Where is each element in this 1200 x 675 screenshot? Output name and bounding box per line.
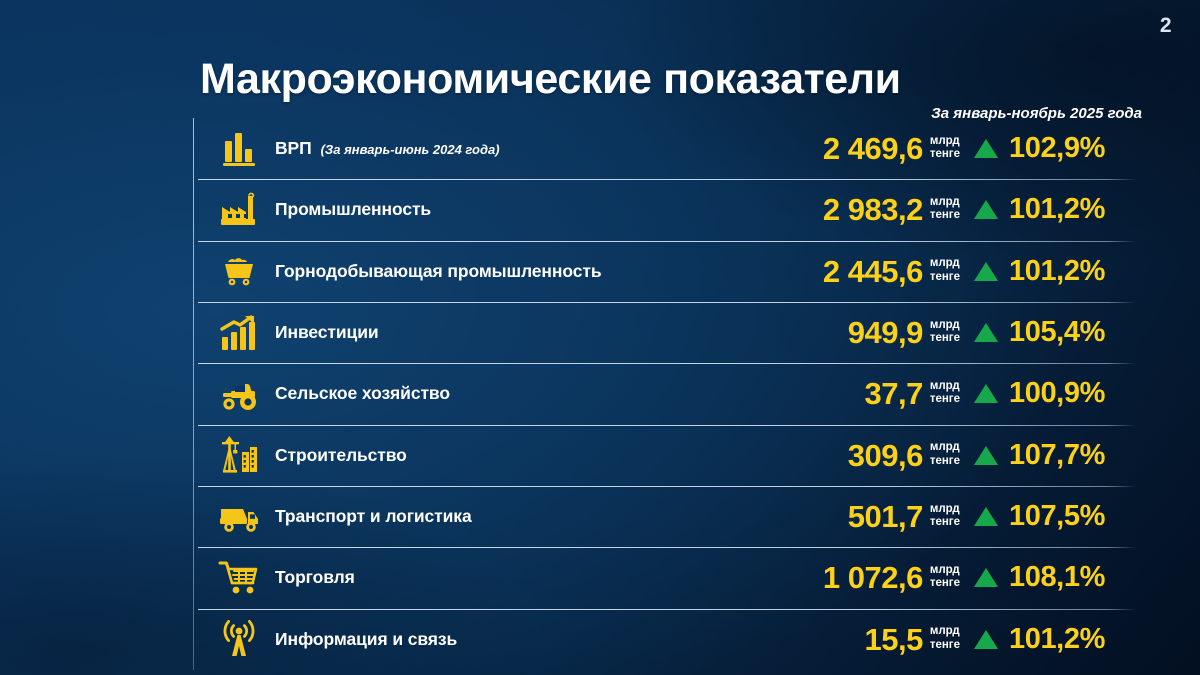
row-change: 105,4% — [960, 318, 1138, 347]
row-value-unit: млрдтенге — [930, 564, 960, 592]
row-label: Сельское хозяйство — [271, 383, 732, 404]
page-title: Макроэкономические показатели — [200, 55, 901, 103]
row-change-percent: 108,1% — [1009, 563, 1105, 592]
table-row[interactable]: Инвестиции949,9млрдтенге105,4% — [198, 302, 1138, 363]
row-label-text: Горнодобывающая промышленность — [275, 261, 601, 282]
table-row[interactable]: Транспорт и логистика501,7млрдтенге107,5… — [198, 486, 1138, 547]
unit-line-2: тенге — [930, 332, 960, 345]
trend-up-icon — [974, 507, 998, 526]
unit-line-1: млрд — [930, 196, 960, 209]
row-label-text: Инвестиции — [275, 322, 379, 343]
row-value: 15,5млрдтенге — [732, 624, 960, 655]
row-change-percent: 102,9% — [1009, 134, 1105, 163]
row-value-amount: 2 469,6 — [823, 133, 923, 164]
unit-line-2: тенге — [930, 148, 960, 161]
period-caption: За январь-ноябрь 2025 года — [931, 105, 1142, 122]
unit-line-1: млрд — [930, 257, 960, 270]
row-label-text: Информация и связь — [275, 629, 457, 650]
row-value-amount: 501,7 — [848, 501, 923, 532]
unit-line-2: тенге — [930, 271, 960, 284]
row-value: 2 983,2млрдтенге — [732, 194, 960, 225]
unit-line-2: тенге — [930, 209, 960, 222]
table-row[interactable]: Горнодобывающая промышленность2 445,6млр… — [198, 241, 1138, 302]
unit-line-2: тенге — [930, 639, 960, 652]
row-value-amount: 949,9 — [848, 317, 923, 348]
row-change-percent: 105,4% — [1009, 318, 1105, 347]
row-value-amount: 2 445,6 — [823, 256, 923, 287]
row-change-percent: 101,2% — [1009, 625, 1105, 654]
row-value-unit: млрдтенге — [930, 319, 960, 347]
table-body: ВРП(За январь-июнь 2024 года)2 469,6млрд… — [198, 118, 1138, 670]
row-change: 102,9% — [960, 134, 1138, 163]
slide-canvas: 2 Макроэкономические показатели За январ… — [0, 0, 1200, 675]
trend-up-icon — [974, 200, 998, 219]
table-left-rail — [193, 118, 194, 670]
trend-up-icon — [974, 568, 998, 587]
row-value-unit: млрдтенге — [930, 257, 960, 285]
table-row[interactable]: ВРП(За январь-июнь 2024 года)2 469,6млрд… — [198, 118, 1138, 179]
mining-cart-icon — [207, 248, 271, 294]
row-label: Транспорт и логистика — [271, 506, 732, 527]
row-value-unit: млрдтенге — [930, 625, 960, 653]
row-change: 101,2% — [960, 625, 1138, 654]
row-change-percent: 100,9% — [1009, 379, 1105, 408]
row-label-text: Строительство — [275, 445, 407, 466]
bar-chart-icon — [207, 126, 271, 172]
growth-chart-icon — [207, 310, 271, 356]
row-value-unit: млрдтенге — [930, 135, 960, 163]
row-label: ВРП(За январь-июнь 2024 года) — [271, 138, 732, 159]
row-label-note: (За январь-июнь 2024 года) — [321, 142, 500, 157]
table-row[interactable]: Торговля1 072,6млрдтенге108,1% — [198, 547, 1138, 608]
row-value-unit: млрдтенге — [930, 380, 960, 408]
row-change: 101,2% — [960, 257, 1138, 286]
row-value-amount: 2 983,2 — [823, 194, 923, 225]
unit-line-1: млрд — [930, 441, 960, 454]
row-label: Промышленность — [271, 199, 732, 220]
table-row[interactable]: Сельское хозяйство37,7млрдтенге100,9% — [198, 363, 1138, 424]
row-value-amount: 37,7 — [864, 378, 922, 409]
row-change-percent: 101,2% — [1009, 257, 1105, 286]
trend-up-icon — [974, 262, 998, 281]
row-value-unit: млрдтенге — [930, 441, 960, 469]
row-label-text: Транспорт и логистика — [275, 506, 472, 527]
row-change-percent: 107,7% — [1009, 441, 1105, 470]
row-change: 100,9% — [960, 379, 1138, 408]
row-label: Строительство — [271, 445, 732, 466]
unit-line-2: тенге — [930, 516, 960, 529]
unit-line-2: тенге — [930, 577, 960, 590]
unit-line-1: млрд — [930, 380, 960, 393]
table-row[interactable]: Строительство309,6млрдтенге107,7% — [198, 425, 1138, 486]
row-value: 949,9млрдтенге — [732, 317, 960, 348]
row-value: 2 469,6млрдтенге — [732, 133, 960, 164]
row-value: 1 072,6млрдтенге — [732, 562, 960, 593]
unit-line-1: млрд — [930, 319, 960, 332]
unit-line-2: тенге — [930, 455, 960, 468]
row-label: Инвестиции — [271, 322, 732, 343]
row-change-percent: 101,2% — [1009, 195, 1105, 224]
row-value-amount: 309,6 — [848, 440, 923, 471]
radio-tower-icon — [207, 616, 271, 662]
row-value: 2 445,6млрдтенге — [732, 256, 960, 287]
row-label-text: ВРП — [275, 138, 312, 159]
row-change: 101,2% — [960, 195, 1138, 224]
shopping-cart-icon — [207, 555, 271, 601]
row-value-unit: млрдтенге — [930, 503, 960, 531]
trend-up-icon — [974, 384, 998, 403]
indicators-table: ВРП(За январь-июнь 2024 года)2 469,6млрд… — [193, 118, 1138, 670]
page-number: 2 — [1160, 14, 1172, 38]
dump-truck-icon — [207, 494, 271, 540]
row-value-unit: млрдтенге — [930, 196, 960, 224]
table-row[interactable]: Промышленность2 983,2млрдтенге101,2% — [198, 179, 1138, 240]
unit-line-1: млрд — [930, 564, 960, 577]
row-value: 309,6млрдтенге — [732, 440, 960, 471]
factory-icon — [207, 187, 271, 233]
unit-line-1: млрд — [930, 503, 960, 516]
row-change: 107,5% — [960, 502, 1138, 531]
trend-up-icon — [974, 323, 998, 342]
row-change: 108,1% — [960, 563, 1138, 592]
row-label: Информация и связь — [271, 629, 732, 650]
unit-line-1: млрд — [930, 135, 960, 148]
row-label-text: Торговля — [275, 567, 355, 588]
row-change: 107,7% — [960, 441, 1138, 470]
unit-line-1: млрд — [930, 625, 960, 638]
trend-up-icon — [974, 630, 998, 649]
row-label: Горнодобывающая промышленность — [271, 261, 732, 282]
row-value: 501,7млрдтенге — [732, 501, 960, 532]
row-label: Торговля — [271, 567, 732, 588]
row-value: 37,7млрдтенге — [732, 378, 960, 409]
row-label-text: Сельское хозяйство — [275, 383, 450, 404]
row-value-amount: 1 072,6 — [823, 562, 923, 593]
tractor-icon — [207, 371, 271, 417]
row-label-text: Промышленность — [275, 199, 431, 220]
row-value-amount: 15,5 — [864, 624, 922, 655]
trend-up-icon — [974, 139, 998, 158]
unit-line-2: тенге — [930, 393, 960, 406]
table-row[interactable]: Информация и связь15,5млрдтенге101,2% — [198, 609, 1138, 670]
crane-building-icon — [207, 432, 271, 478]
trend-up-icon — [974, 446, 998, 465]
row-change-percent: 107,5% — [1009, 502, 1105, 531]
